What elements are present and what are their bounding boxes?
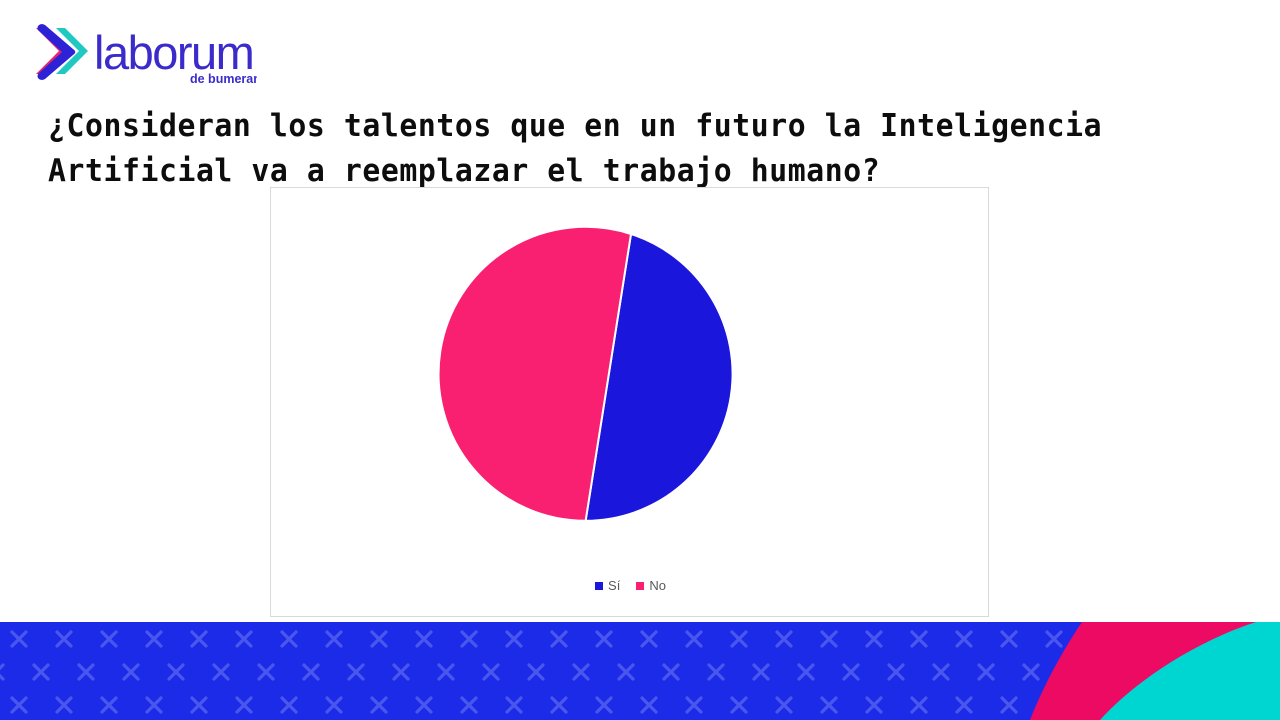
legend-swatch-si — [595, 582, 603, 590]
footer-cross-pattern — [0, 622, 1082, 720]
pie-chart-plot-area: 45% 55% — [271, 188, 990, 573]
slide-title: ¿Consideran los talentos que en un futur… — [48, 104, 1171, 194]
pie-chart-svg — [271, 188, 990, 573]
logo-tagline: de bumeran — [190, 72, 257, 84]
chevron-blue-icon — [38, 24, 76, 80]
laborum-logo: laborum de bumeran — [32, 22, 257, 84]
legend-item-si[interactable]: Sí — [595, 579, 620, 592]
pie-label-si: 45% — [727, 530, 757, 547]
legend-item-no[interactable]: No — [636, 579, 666, 592]
pie-chart-container: 45% 55% Sí No — [270, 187, 989, 617]
legend-label-si: Sí — [608, 579, 620, 592]
footer-banner — [0, 622, 1280, 720]
laborum-logo-svg: laborum de bumeran — [32, 22, 257, 84]
pie-chart-legend: Sí No — [271, 579, 990, 592]
legend-swatch-no — [636, 582, 644, 590]
legend-label-no: No — [649, 579, 666, 592]
footer-banner-svg — [0, 622, 1280, 720]
